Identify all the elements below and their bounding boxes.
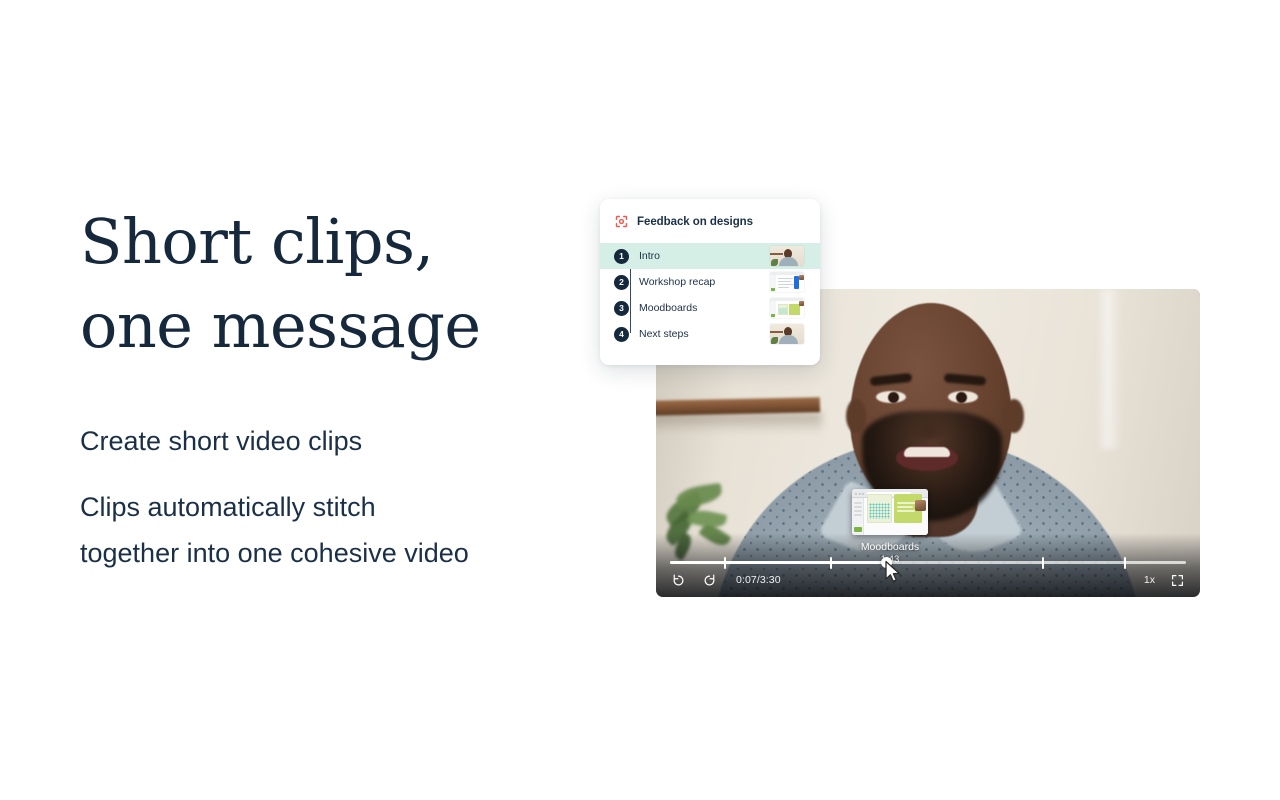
chapter-label: Workshop recap [639, 276, 760, 288]
chapter-row-intro[interactable]: 1 Intro [600, 243, 820, 269]
chapter-number-badge: 2 [614, 275, 629, 290]
preview-thumbnail [852, 489, 928, 535]
body-copy: Create short video clips Clips automatic… [80, 418, 600, 576]
chapter-list: 1 Intro 2 Workshop recap 3 Moodboards [600, 243, 820, 347]
preview-title: Moodboards [852, 541, 928, 554]
chapter-thumbnail[interactable] [770, 246, 804, 266]
chapter-number-badge: 1 [614, 249, 629, 264]
fullscreen-icon[interactable] [1169, 572, 1186, 589]
copy-block: Short clips, one message Create short vi… [80, 200, 600, 576]
chapter-number-badge: 3 [614, 301, 629, 316]
record-frame-icon [614, 214, 629, 229]
video-progress-bar[interactable] [670, 555, 1186, 569]
page-title: Short clips, one message [80, 200, 600, 368]
rewind-15-icon[interactable] [670, 572, 687, 589]
slide-canvas: Short clips, one message Create short vi… [0, 0, 1280, 800]
chapter-marker[interactable] [1042, 557, 1044, 569]
playback-speed-button[interactable]: 1x [1144, 574, 1155, 586]
chapter-label: Moodboards [639, 302, 760, 314]
forward-15-icon[interactable] [701, 572, 718, 589]
chapter-marker[interactable] [830, 557, 832, 569]
chapter-row-workshop-recap[interactable]: 2 Workshop recap [600, 269, 820, 295]
chapter-row-moodboards[interactable]: 3 Moodboards [600, 295, 820, 321]
chapter-label: Intro [639, 250, 760, 262]
chapter-number-badge: 4 [614, 327, 629, 342]
chapter-thumbnail[interactable] [770, 272, 804, 292]
chapter-card-header: Feedback on designs [600, 214, 820, 229]
video-controls: 0:07/3:30 1x [670, 569, 1186, 591]
chapter-marker[interactable] [724, 557, 726, 569]
chapter-row-next-steps[interactable]: 4 Next steps [600, 321, 820, 347]
chapter-card: Feedback on designs 1 Intro 2 Workshop r… [600, 199, 820, 365]
body-line-1: Create short video clips [80, 418, 600, 464]
chapter-card-title: Feedback on designs [637, 216, 753, 228]
time-label: 0:07/3:30 [736, 574, 781, 586]
progress-played [670, 561, 887, 564]
chapter-thumbnail[interactable] [770, 324, 804, 344]
body-line-2: Clips automatically stitch together into… [80, 484, 600, 576]
chapter-label: Next steps [639, 328, 760, 340]
chapter-thumbnail[interactable] [770, 298, 804, 318]
playhead-handle[interactable] [881, 557, 892, 568]
chapter-marker[interactable] [1124, 557, 1126, 569]
